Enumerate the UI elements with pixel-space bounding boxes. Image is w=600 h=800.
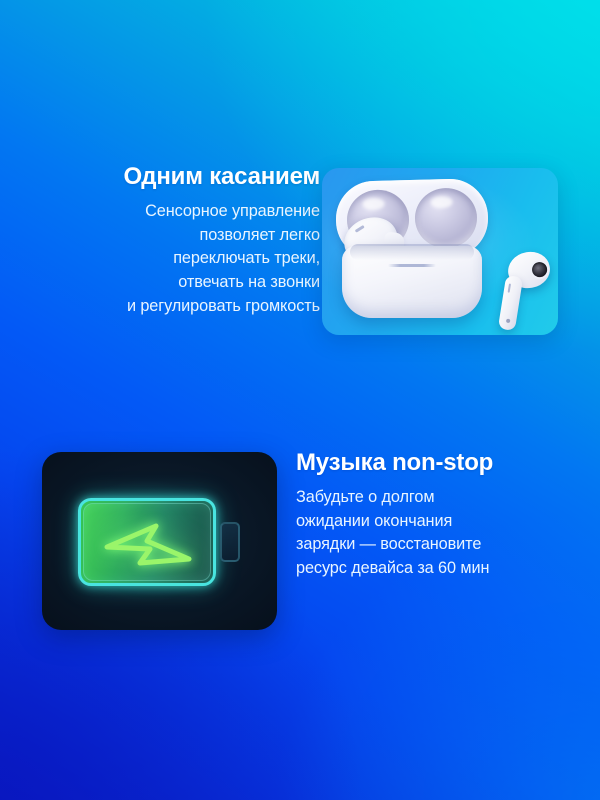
touch-control-body-line-4: отвечать на звонки	[22, 271, 320, 295]
earbud-nozzle	[531, 261, 548, 278]
earbud-microphone-dot	[506, 319, 511, 324]
promo-stage: Одним касанием Сенсорное управление позв…	[0, 0, 600, 800]
earbuds-image-card	[322, 168, 558, 335]
touch-control-body-line-3: переключать треки,	[22, 247, 320, 271]
earbud-detail-line	[355, 225, 365, 233]
case-inner-shadow	[350, 244, 474, 260]
cavity-highlight	[431, 196, 454, 209]
touch-control-heading: Одним касанием	[22, 164, 320, 191]
lightning-bolt-icon	[100, 514, 196, 572]
battery-terminal-icon	[220, 522, 240, 562]
touch-control-body-line-5: и регулировать громкость	[22, 295, 320, 319]
touch-control-body-line-2: позволяет легко	[22, 224, 320, 248]
music-non-stop-body-line-1: Забудьте о долгом	[296, 486, 586, 510]
music-non-stop-heading: Музыка non-stop	[296, 450, 586, 477]
music-non-stop-body-line-4: ресурс девайса за 60 мин	[296, 557, 586, 581]
earbuds-illustration	[322, 168, 558, 335]
music-non-stop-body-line-2: ожидании окончания	[296, 510, 586, 534]
charging-case-body	[342, 246, 482, 318]
case-cavity-right	[414, 187, 478, 249]
earbud-stem	[498, 275, 523, 331]
cavity-highlight	[363, 198, 386, 211]
touch-control-body-line-1: Сенсорное управление	[22, 200, 320, 224]
touch-control-body: Сенсорное управление позволяет легко пер…	[22, 200, 320, 319]
music-non-stop-body-line-3: зарядки — восстановите	[296, 533, 586, 557]
touch-control-text-block: Одним касанием Сенсорное управление позв…	[22, 164, 320, 319]
music-non-stop-body: Забудьте о долгом ожидании окончания зар…	[296, 486, 586, 581]
battery-image-card	[42, 452, 277, 630]
music-non-stop-text-block: Музыка non-stop Забудьте о долгом ожидан…	[296, 450, 586, 581]
standalone-earbud	[498, 252, 552, 330]
case-seam-line	[388, 264, 436, 267]
earbud-stem-line	[508, 284, 511, 293]
